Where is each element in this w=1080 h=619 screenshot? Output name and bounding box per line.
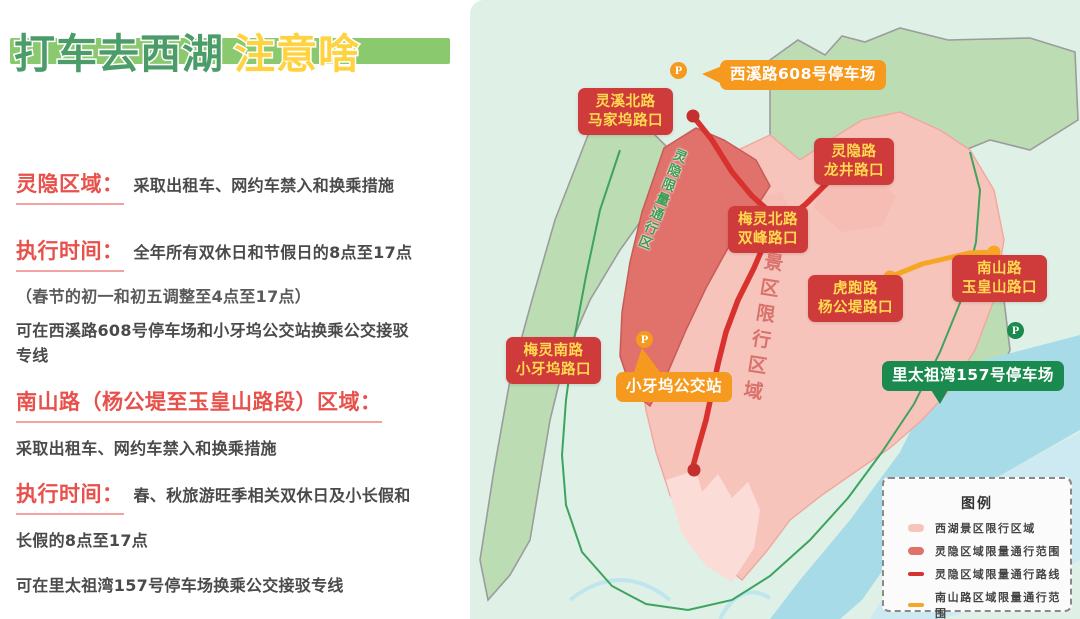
legend-item-label: 灵隐区域限量通行路线 — [935, 566, 1061, 582]
map-label-line: 小牙坞路口 — [516, 361, 591, 380]
map-label-line: 灵溪北路 — [588, 93, 663, 112]
section-heading-value: 采取出租车、网约车禁入和换乘措施 — [134, 172, 395, 196]
legend-title: 图例 — [884, 493, 1070, 513]
section-lingyin-time: 执行时间： 全年所有双休日和节假日的8点至17点 （春节的初一和初五调整至4点至… — [16, 235, 462, 368]
legend-swatch-icon — [908, 547, 924, 555]
map-label-line: 玉皇山路口 — [962, 279, 1037, 298]
map-label-meiling-shuangfeng[interactable]: 梅灵北路 双峰路口 — [728, 206, 808, 253]
map-label-line: 梅灵南路 — [516, 342, 591, 361]
section-heading: 灵隐区域： — [16, 168, 124, 205]
route-node — [687, 110, 700, 123]
map-label-line: 梅灵北路 — [738, 211, 798, 230]
section-body-line: 可在西溪路608号停车场和小牙坞公交站换乘公交接驳 — [16, 319, 462, 344]
map-label-xiaoyawu-busstop[interactable]: 小牙坞公交站 — [616, 372, 732, 402]
infographic-root: 打车去西湖注意啥 灵隐区域： 采取出租车、网约车禁入和换乘措施 执行时间： 全年… — [0, 0, 1080, 619]
legend-item: 南山路区域限量通行范围 — [908, 589, 1070, 619]
map-label-line: 里太祖湾157号停车场 — [892, 366, 1054, 384]
section-heading-value: 全年所有双休日和节假日的8点至17点 — [134, 239, 413, 263]
map-label-line: 南山路 — [962, 260, 1037, 279]
section-nanshan-time: 执行时间： 春、秋旅游旺季相关双休日及小长假和 长假的8点至17点 可在里太祖湾… — [16, 478, 462, 599]
section-body-line: 采取出租车、网约车禁入和换乘措施 — [16, 437, 462, 462]
legend-item-label: 灵隐区域限量通行范围 — [935, 543, 1061, 559]
map-label-meiling-xiaoyawu[interactable]: 梅灵南路 小牙坞路口 — [506, 337, 601, 384]
map-label-line: 西溪路608号停车场 — [730, 65, 876, 83]
legend-item: 灵隐区域限量通行范围 — [908, 543, 1070, 559]
legend-item: 西湖景区限行区域 — [908, 520, 1070, 536]
page-title: 打车去西湖注意啥 — [14, 34, 360, 75]
section-heading: 执行时间： — [16, 235, 124, 272]
map-label-nanshan-yuhuangshan[interactable]: 南山路 玉皇山路口 — [952, 255, 1047, 302]
legend-item: 灵隐区域限量通行路线 — [908, 566, 1070, 582]
section-heading: 南山路（杨公堤至玉皇山路段）区域： — [16, 386, 382, 423]
map-label-line: 马家坞路口 — [588, 112, 663, 131]
parking-marker-xiaoyawu[interactable]: P — [636, 331, 653, 348]
page-title-part2: 注意啥 — [234, 30, 360, 78]
legend-item-label: 南山路区域限量通行范围 — [935, 589, 1070, 619]
section-note-line: （春节的初一和初五调整至4点至17点） — [16, 285, 462, 310]
map-label-line: 灵隐路 — [824, 143, 884, 162]
section-body-line: 长假的8点至17点 — [16, 529, 462, 554]
legend-item-label: 西湖景区限行区域 — [935, 520, 1036, 536]
page-title-part1: 打车去西湖 — [14, 30, 224, 78]
left-text-panel: 打车去西湖注意啥 灵隐区域： 采取出租车、网约车禁入和换乘措施 执行时间： 全年… — [0, 0, 470, 619]
section-lingyin-area: 灵隐区域： 采取出租车、网约车禁入和换乘措施 — [16, 168, 462, 205]
route-node — [688, 464, 701, 477]
section-heading: 执行时间： — [16, 478, 124, 515]
legend-line-icon — [908, 572, 924, 576]
map-label-lingyin-longjing[interactable]: 灵隐路 龙井路口 — [814, 138, 894, 185]
section-nanshan-area: 南山路（杨公堤至玉皇山路段）区域： 采取出租车、网约车禁入和换乘措施 — [16, 386, 462, 462]
section-body-line: 可在里太祖湾157号停车场换乘公交接驳专线 — [16, 574, 462, 599]
map-label-line: 虎跑路 — [818, 280, 893, 299]
section-heading-value: 春、秋旅游旺季相关双休日及小长假和 — [134, 482, 411, 506]
map-label-line: 小牙坞公交站 — [626, 377, 722, 395]
section-body-line: 专线 — [16, 344, 462, 369]
legend-line-icon — [908, 603, 924, 607]
map-label-hupao-yanggongdi[interactable]: 虎跑路 杨公堤路口 — [808, 275, 903, 322]
map-label-line: 双峰路口 — [738, 230, 798, 249]
map-label-lingxi-majiawu[interactable]: 灵溪北路 马家坞路口 — [578, 88, 673, 135]
parking-marker-xixi[interactable]: P — [670, 62, 687, 79]
map-label-xixi-parking[interactable]: 西溪路608号停车场 — [720, 60, 886, 90]
legend-swatch-icon — [908, 524, 924, 532]
map-label-line: 龙井路口 — [824, 162, 884, 181]
map-label-line: 杨公堤路口 — [818, 299, 893, 318]
map-legend: 图例 西湖景区限行区域 灵隐区域限量通行范围 灵隐区域限量通行路线 南山路区域限… — [882, 477, 1072, 612]
map-label-litaizuwan-parking[interactable]: 里太祖湾157号停车场 — [882, 361, 1064, 391]
parking-marker-litaizuwan[interactable]: P — [1007, 322, 1024, 339]
map-panel: P P P 西溪路608号停车场 灵溪北路 马家坞路口 灵隐路 龙井路口 梅灵北… — [470, 0, 1080, 619]
